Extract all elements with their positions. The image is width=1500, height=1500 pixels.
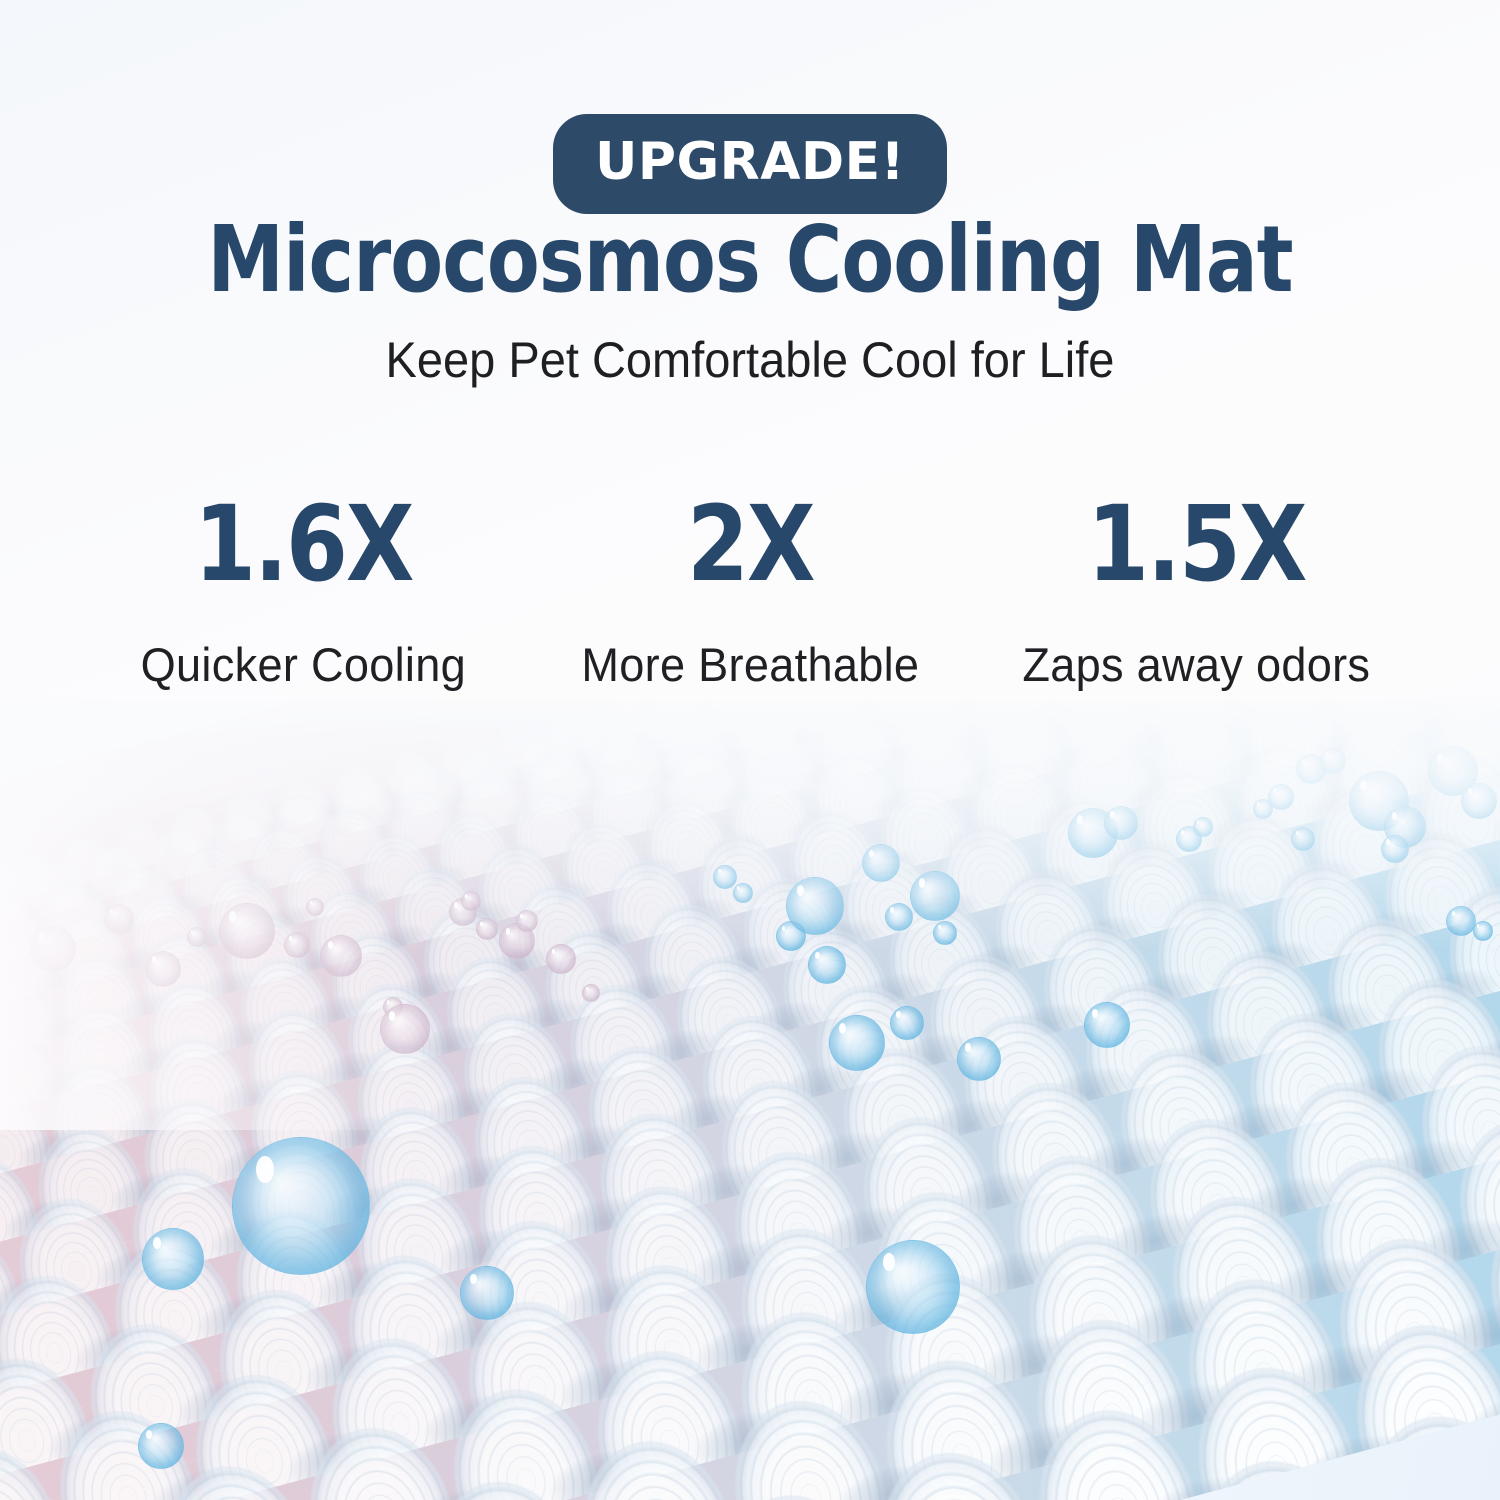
stat-quicker-cooling: 1.6X Quicker Cooling: [80, 492, 527, 692]
stat-label: More Breathable: [536, 638, 965, 692]
page-subtitle: Keep Pet Comfortable Cool for Life: [45, 330, 1455, 390]
stats-row: 1.6X Quicker Cooling 2X More Breathable …: [80, 492, 1420, 692]
upgrade-badge-row: UPGRADE!: [0, 114, 1500, 214]
stat-more-breathable: 2X More Breathable: [527, 492, 974, 692]
header-block: UPGRADE! Microcosmos Cooling Mat Keep Pe…: [0, 0, 1500, 740]
upgrade-badge: UPGRADE!: [553, 114, 947, 214]
stat-label: Zaps away odors: [982, 638, 1411, 692]
product-marketing-image: UPGRADE! Microcosmos Cooling Mat Keep Pe…: [0, 0, 1500, 1500]
page-title: Microcosmos Cooling Mat: [53, 212, 1448, 309]
stat-label: Quicker Cooling: [89, 638, 518, 692]
stat-value: 1.5X: [985, 492, 1409, 596]
stat-zaps-away-odors: 1.5X Zaps away odors: [973, 492, 1420, 692]
cooling-fabric-weave: [0, 700, 1500, 1500]
stat-value: 1.6X: [91, 492, 515, 596]
stat-value: 2X: [538, 492, 962, 596]
product-photo: [0, 700, 1500, 1500]
